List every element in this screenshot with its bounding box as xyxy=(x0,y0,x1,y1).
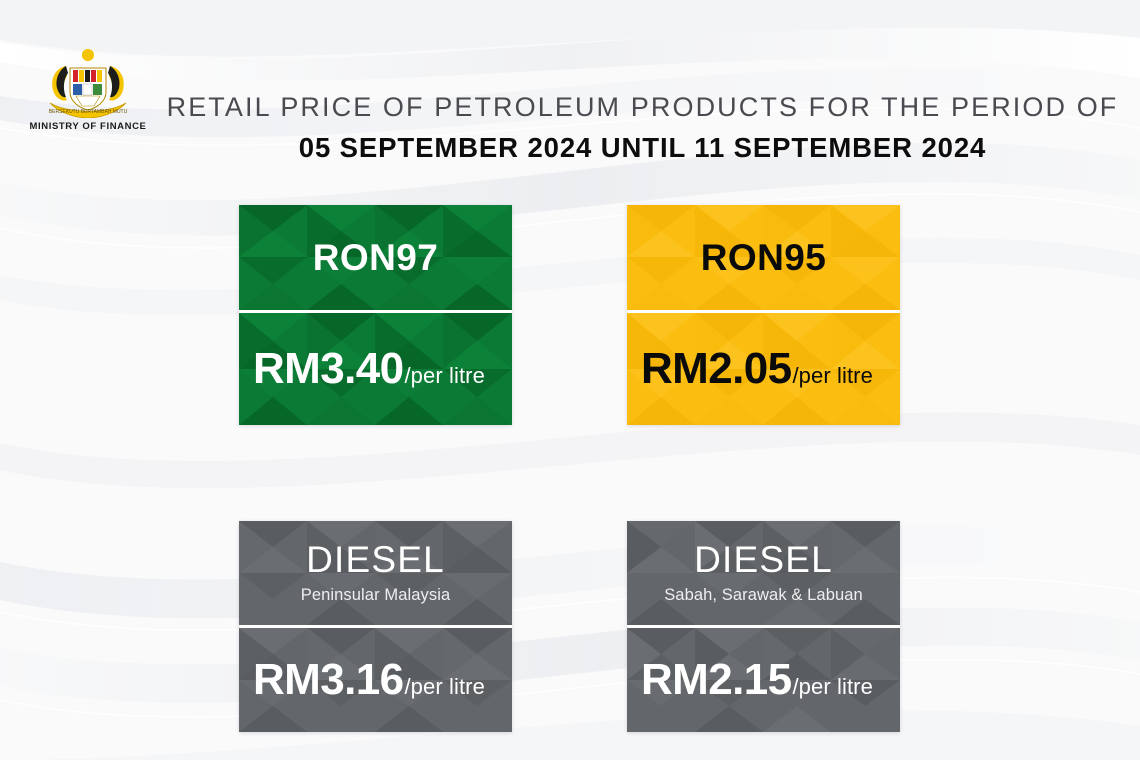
price-row: RM3.40 /per litre xyxy=(239,347,512,391)
svg-text:BERSEKUTU BERTAMBAH MUTU: BERSEKUTU BERTAMBAH MUTU xyxy=(49,109,128,115)
price-amount-label: RM2.05 xyxy=(641,347,791,391)
card-header-ron95: RON95 xyxy=(627,205,900,310)
fuel-name-label: DIESEL xyxy=(694,541,833,578)
page-title: RETAIL PRICE OF PETROLEUM PRODUCTS FOR T… xyxy=(160,92,1125,164)
title-line-primary: RETAIL PRICE OF PETROLEUM PRODUCTS FOR T… xyxy=(160,92,1125,123)
price-amount-label: RM3.16 xyxy=(253,658,403,702)
price-row: RM2.15 /per litre xyxy=(627,658,900,702)
card-divider xyxy=(627,625,900,628)
price-unit-label: /per litre xyxy=(404,674,484,700)
card-divider xyxy=(239,310,512,313)
card-price-ron97: RM3.40 /per litre xyxy=(239,313,512,425)
price-unit-label: /per litre xyxy=(792,674,872,700)
fuel-region-label: Sabah, Sarawak & Labuan xyxy=(664,586,863,605)
price-card-diesel-sabah: DIESEL Sabah, Sarawak & Labuan RM2.15 /p… xyxy=(627,521,900,732)
price-card-ron97: RON97 RM3.40 /per litre xyxy=(239,205,512,425)
price-row: RM3.16 /per litre xyxy=(239,658,512,702)
card-header-diesel-sabah: DIESEL Sabah, Sarawak & Labuan xyxy=(627,521,900,625)
page-header: BERSEKUTU BERTAMBAH MUTU MINISTRY OF FIN… xyxy=(0,0,1140,185)
card-price-diesel-peninsular: RM3.16 /per litre xyxy=(239,628,512,732)
price-amount-label: RM2.15 xyxy=(641,658,791,702)
card-price-diesel-sabah: RM2.15 /per litre xyxy=(627,628,900,732)
card-header-ron97: RON97 xyxy=(239,205,512,310)
card-divider xyxy=(627,310,900,313)
card-header-diesel-peninsular: DIESEL Peninsular Malaysia xyxy=(239,521,512,625)
price-row: RM2.05 /per litre xyxy=(627,347,900,391)
fuel-name-label: RON97 xyxy=(313,239,438,276)
price-card-diesel-peninsular: DIESEL Peninsular Malaysia RM3.16 /per l… xyxy=(239,521,512,732)
ministry-branding: BERSEKUTU BERTAMBAH MUTU MINISTRY OF FIN… xyxy=(18,48,158,132)
malaysia-coat-of-arms-icon: BERSEKUTU BERTAMBAH MUTU xyxy=(36,48,140,118)
price-card-ron95: RON95 RM2.05 /per litre xyxy=(627,205,900,425)
price-unit-label: /per litre xyxy=(792,363,872,389)
fuel-name-label: DIESEL xyxy=(306,541,445,578)
title-line-period: 05 SEPTEMBER 2024 UNTIL 11 SEPTEMBER 202… xyxy=(160,132,1125,164)
price-unit-label: /per litre xyxy=(404,363,484,389)
ministry-name-label: MINISTRY OF FINANCE xyxy=(18,121,158,132)
fuel-name-label: RON95 xyxy=(701,239,826,276)
card-price-ron95: RM2.05 /per litre xyxy=(627,313,900,425)
card-divider xyxy=(239,625,512,628)
price-amount-label: RM3.40 xyxy=(253,347,403,391)
fuel-region-label: Peninsular Malaysia xyxy=(301,586,451,605)
